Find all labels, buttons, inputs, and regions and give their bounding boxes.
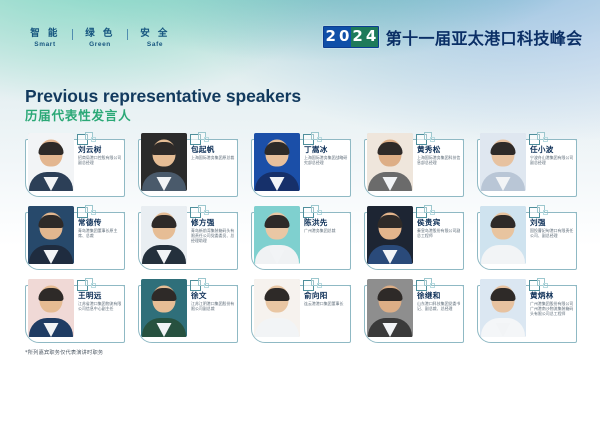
speaker-meta: 任小波宁波舟山港集团有限公司副总经理 — [530, 145, 575, 166]
poster-page: 智 能 Smart 绿 色 Green 安 全 Safe 2 0 2 4 第十一… — [0, 0, 600, 425]
event-brand-lockup: 2 0 2 4 第十一届亚太港口科技峰会 — [323, 25, 583, 49]
speaker-meta: 侯贵宾秦皇岛港股份有限公司副总工程师 — [417, 218, 462, 239]
slogan-divider — [72, 29, 73, 40]
corner-squares-icon — [529, 278, 577, 292]
corner-squares-icon — [529, 205, 577, 219]
slogan-en: Green — [89, 40, 111, 50]
speaker-title: 招商局港口控股有限公司副总经理 — [78, 156, 123, 166]
corner-squares-icon — [190, 278, 238, 292]
speaker-meta: 丁嵩冰上海国际港务集团战略研究部总经理 — [304, 145, 349, 166]
slogan-item-smart: 智 能 Smart — [25, 28, 65, 50]
speaker-card[interactable]: 陈洪先广州港务集团总裁 — [251, 206, 351, 270]
speaker-meta: 常德传青岛港集团董事长原主席、总裁 — [78, 218, 123, 239]
slogan-cn: 安 全 — [140, 28, 170, 39]
slogan-cn: 智 能 — [30, 28, 60, 39]
year-digit: 2 — [324, 27, 337, 47]
speaker-card[interactable]: 丁嵩冰上海国际港务集团战略研究部总经理 — [251, 133, 351, 197]
speaker-photo — [367, 279, 413, 337]
speaker-meta: 黄秀松上海国际港务集团科技信息部总经理 — [417, 145, 462, 166]
corner-squares-icon — [77, 278, 125, 292]
speaker-meta: 俞向阳连云港港口集团董事长 — [304, 291, 349, 307]
speaker-meta: 陈洪先广州港务集团总裁 — [304, 218, 349, 234]
speaker-title: 宁波舟山港集团有限公司副总经理 — [530, 156, 575, 166]
speaker-card[interactable]: 王明远江苏省港口集团物流有限公司信息中心副主任 — [25, 279, 125, 343]
speaker-card[interactable]: 俞向阳连云港港口集团董事长 — [251, 279, 351, 343]
footnote: *所列嘉宾职务仅代表演讲时职务 — [25, 349, 103, 356]
corner-squares-icon — [190, 205, 238, 219]
slogan-cn: 绿 色 — [85, 28, 115, 39]
speaker-card[interactable]: 黄炳林广州港集团股份有限公司广州港南沙物流集装箱码头有限公司总工程师 — [477, 279, 577, 343]
speaker-title: 上海国际港务集团科技信息部总经理 — [417, 156, 462, 166]
speaker-title: 江苏江阴港口集团股份有限公司副总裁 — [191, 302, 236, 312]
page-title: Previous representative speakers — [25, 86, 301, 106]
speaker-card[interactable]: 包起帆上海国际港务集团原总裁 — [138, 133, 238, 197]
event-title: 第十一届亚太港口科技峰会 — [386, 25, 583, 49]
speaker-name: 任小波 — [530, 145, 575, 154]
speaker-photo — [367, 206, 413, 264]
speaker-card[interactable]: 黄秀松上海国际港务集团科技信息部总经理 — [364, 133, 464, 197]
speaker-name: 黄炳林 — [530, 291, 575, 300]
speaker-title: 青岛港集团董事长原主席、总裁 — [78, 229, 123, 239]
speaker-title: 广州港集团股份有限公司广州港南沙物流集装箱码头有限公司总工程师 — [530, 302, 575, 317]
slogan-divider — [127, 29, 128, 40]
speaker-photo — [254, 279, 300, 337]
speaker-title: 上海国际港务集团战略研究部总经理 — [304, 156, 349, 166]
speaker-photo — [480, 133, 526, 191]
speaker-card[interactable]: 徐文江苏江阴港口集团股份有限公司副总裁 — [138, 279, 238, 343]
speaker-name: 包起帆 — [191, 145, 236, 154]
corner-squares-icon — [416, 132, 464, 146]
event-year-badge: 2 0 2 4 — [323, 26, 379, 48]
speaker-meta: 包起帆上海国际港务集团原总裁 — [191, 145, 236, 161]
speaker-photo — [254, 206, 300, 264]
speaker-name: 俞向阳 — [304, 291, 349, 300]
speaker-name: 修方强 — [191, 218, 236, 227]
speaker-title: 青岛新前湾集装箱码头有限责任公司党委委员、总经理助理 — [191, 229, 236, 244]
speaker-card[interactable]: 任小波宁波舟山港集团有限公司副总经理 — [477, 133, 577, 197]
corner-squares-icon — [303, 205, 351, 219]
slogan-item-green: 绿 色 Green — [80, 28, 120, 50]
speaker-title: 上海国际港务集团原总裁 — [191, 156, 236, 161]
speaker-name: 徐文 — [191, 291, 236, 300]
speaker-title: 连云港港口集团董事长 — [304, 302, 349, 307]
corner-squares-icon — [529, 132, 577, 146]
corner-squares-icon — [190, 132, 238, 146]
speaker-name: 徐继和 — [417, 291, 462, 300]
header-banner: 智 能 Smart 绿 色 Green 安 全 Safe 2 0 2 4 第十一… — [0, 0, 600, 72]
speaker-photo — [480, 206, 526, 264]
speaker-photo — [28, 206, 74, 264]
speaker-name: 王明远 — [78, 291, 123, 300]
speaker-card[interactable]: 徐继和山东港口科技集团党委书记、副总裁、总经理 — [364, 279, 464, 343]
speaker-photo — [28, 133, 74, 191]
slogan-group: 智 能 Smart 绿 色 Green 安 全 Safe — [25, 28, 175, 50]
speaker-photo — [141, 279, 187, 337]
speaker-card[interactable]: 修方强青岛新前湾集装箱码头有限责任公司党委委员、总经理助理 — [138, 206, 238, 270]
speaker-title: 江苏省港口集团物流有限公司信息中心副主任 — [78, 302, 123, 312]
year-digit: 4 — [364, 27, 377, 47]
speaker-title: 国投曹妃甸港口有限责任公司、副总经理 — [530, 229, 575, 239]
speaker-name: 侯贵宾 — [417, 218, 462, 227]
speaker-card[interactable]: 刘强国投曹妃甸港口有限责任公司、副总经理 — [477, 206, 577, 270]
year-digit: 0 — [337, 27, 350, 47]
corner-squares-icon — [416, 278, 464, 292]
speaker-name: 刘强 — [530, 218, 575, 227]
speaker-name: 陈洪先 — [304, 218, 349, 227]
speaker-title: 秦皇岛港股份有限公司副总工程师 — [417, 229, 462, 239]
corner-squares-icon — [77, 132, 125, 146]
speaker-name: 黄秀松 — [417, 145, 462, 154]
speaker-card[interactable]: 刘云树招商局港口控股有限公司副总经理 — [25, 133, 125, 197]
speaker-photo — [480, 279, 526, 337]
speaker-meta: 修方强青岛新前湾集装箱码头有限责任公司党委委员、总经理助理 — [191, 218, 236, 244]
speaker-photo — [141, 133, 187, 191]
speaker-meta: 黄炳林广州港集团股份有限公司广州港南沙物流集装箱码头有限公司总工程师 — [530, 291, 575, 317]
corner-squares-icon — [303, 132, 351, 146]
corner-squares-icon — [303, 278, 351, 292]
corner-squares-icon — [416, 205, 464, 219]
speaker-title: 广州港务集团总裁 — [304, 229, 349, 234]
speaker-name: 刘云树 — [78, 145, 123, 154]
speaker-card[interactable]: 侯贵宾秦皇岛港股份有限公司副总工程师 — [364, 206, 464, 270]
speaker-name: 丁嵩冰 — [304, 145, 349, 154]
slogan-en: Smart — [34, 40, 55, 50]
speaker-title: 山东港口科技集团党委书记、副总裁、总经理 — [417, 302, 462, 312]
speaker-photo — [367, 133, 413, 191]
speaker-meta: 徐文江苏江阴港口集团股份有限公司副总裁 — [191, 291, 236, 312]
speaker-grid: 刘云树招商局港口控股有限公司副总经理包起帆上海国际港务集团原总裁丁嵩冰上海国际港… — [25, 133, 577, 350]
slogan-item-safe: 安 全 Safe — [135, 28, 175, 50]
speaker-meta: 刘强国投曹妃甸港口有限责任公司、副总经理 — [530, 218, 575, 239]
speaker-photo — [28, 279, 74, 337]
speaker-meta: 徐继和山东港口科技集团党委书记、副总裁、总经理 — [417, 291, 462, 312]
speaker-name: 常德传 — [78, 218, 123, 227]
slogan-en: Safe — [147, 40, 163, 50]
year-digit: 2 — [351, 27, 364, 47]
speaker-meta: 王明远江苏省港口集团物流有限公司信息中心副主任 — [78, 291, 123, 312]
speaker-meta: 刘云树招商局港口控股有限公司副总经理 — [78, 145, 123, 166]
speaker-card[interactable]: 常德传青岛港集团董事长原主席、总裁 — [25, 206, 125, 270]
speaker-photo — [254, 133, 300, 191]
corner-squares-icon — [77, 205, 125, 219]
speaker-photo — [141, 206, 187, 264]
section-heading: Previous representative speakers 历届代表性发言… — [25, 86, 301, 124]
page-subtitle: 历届代表性发言人 — [25, 108, 301, 124]
